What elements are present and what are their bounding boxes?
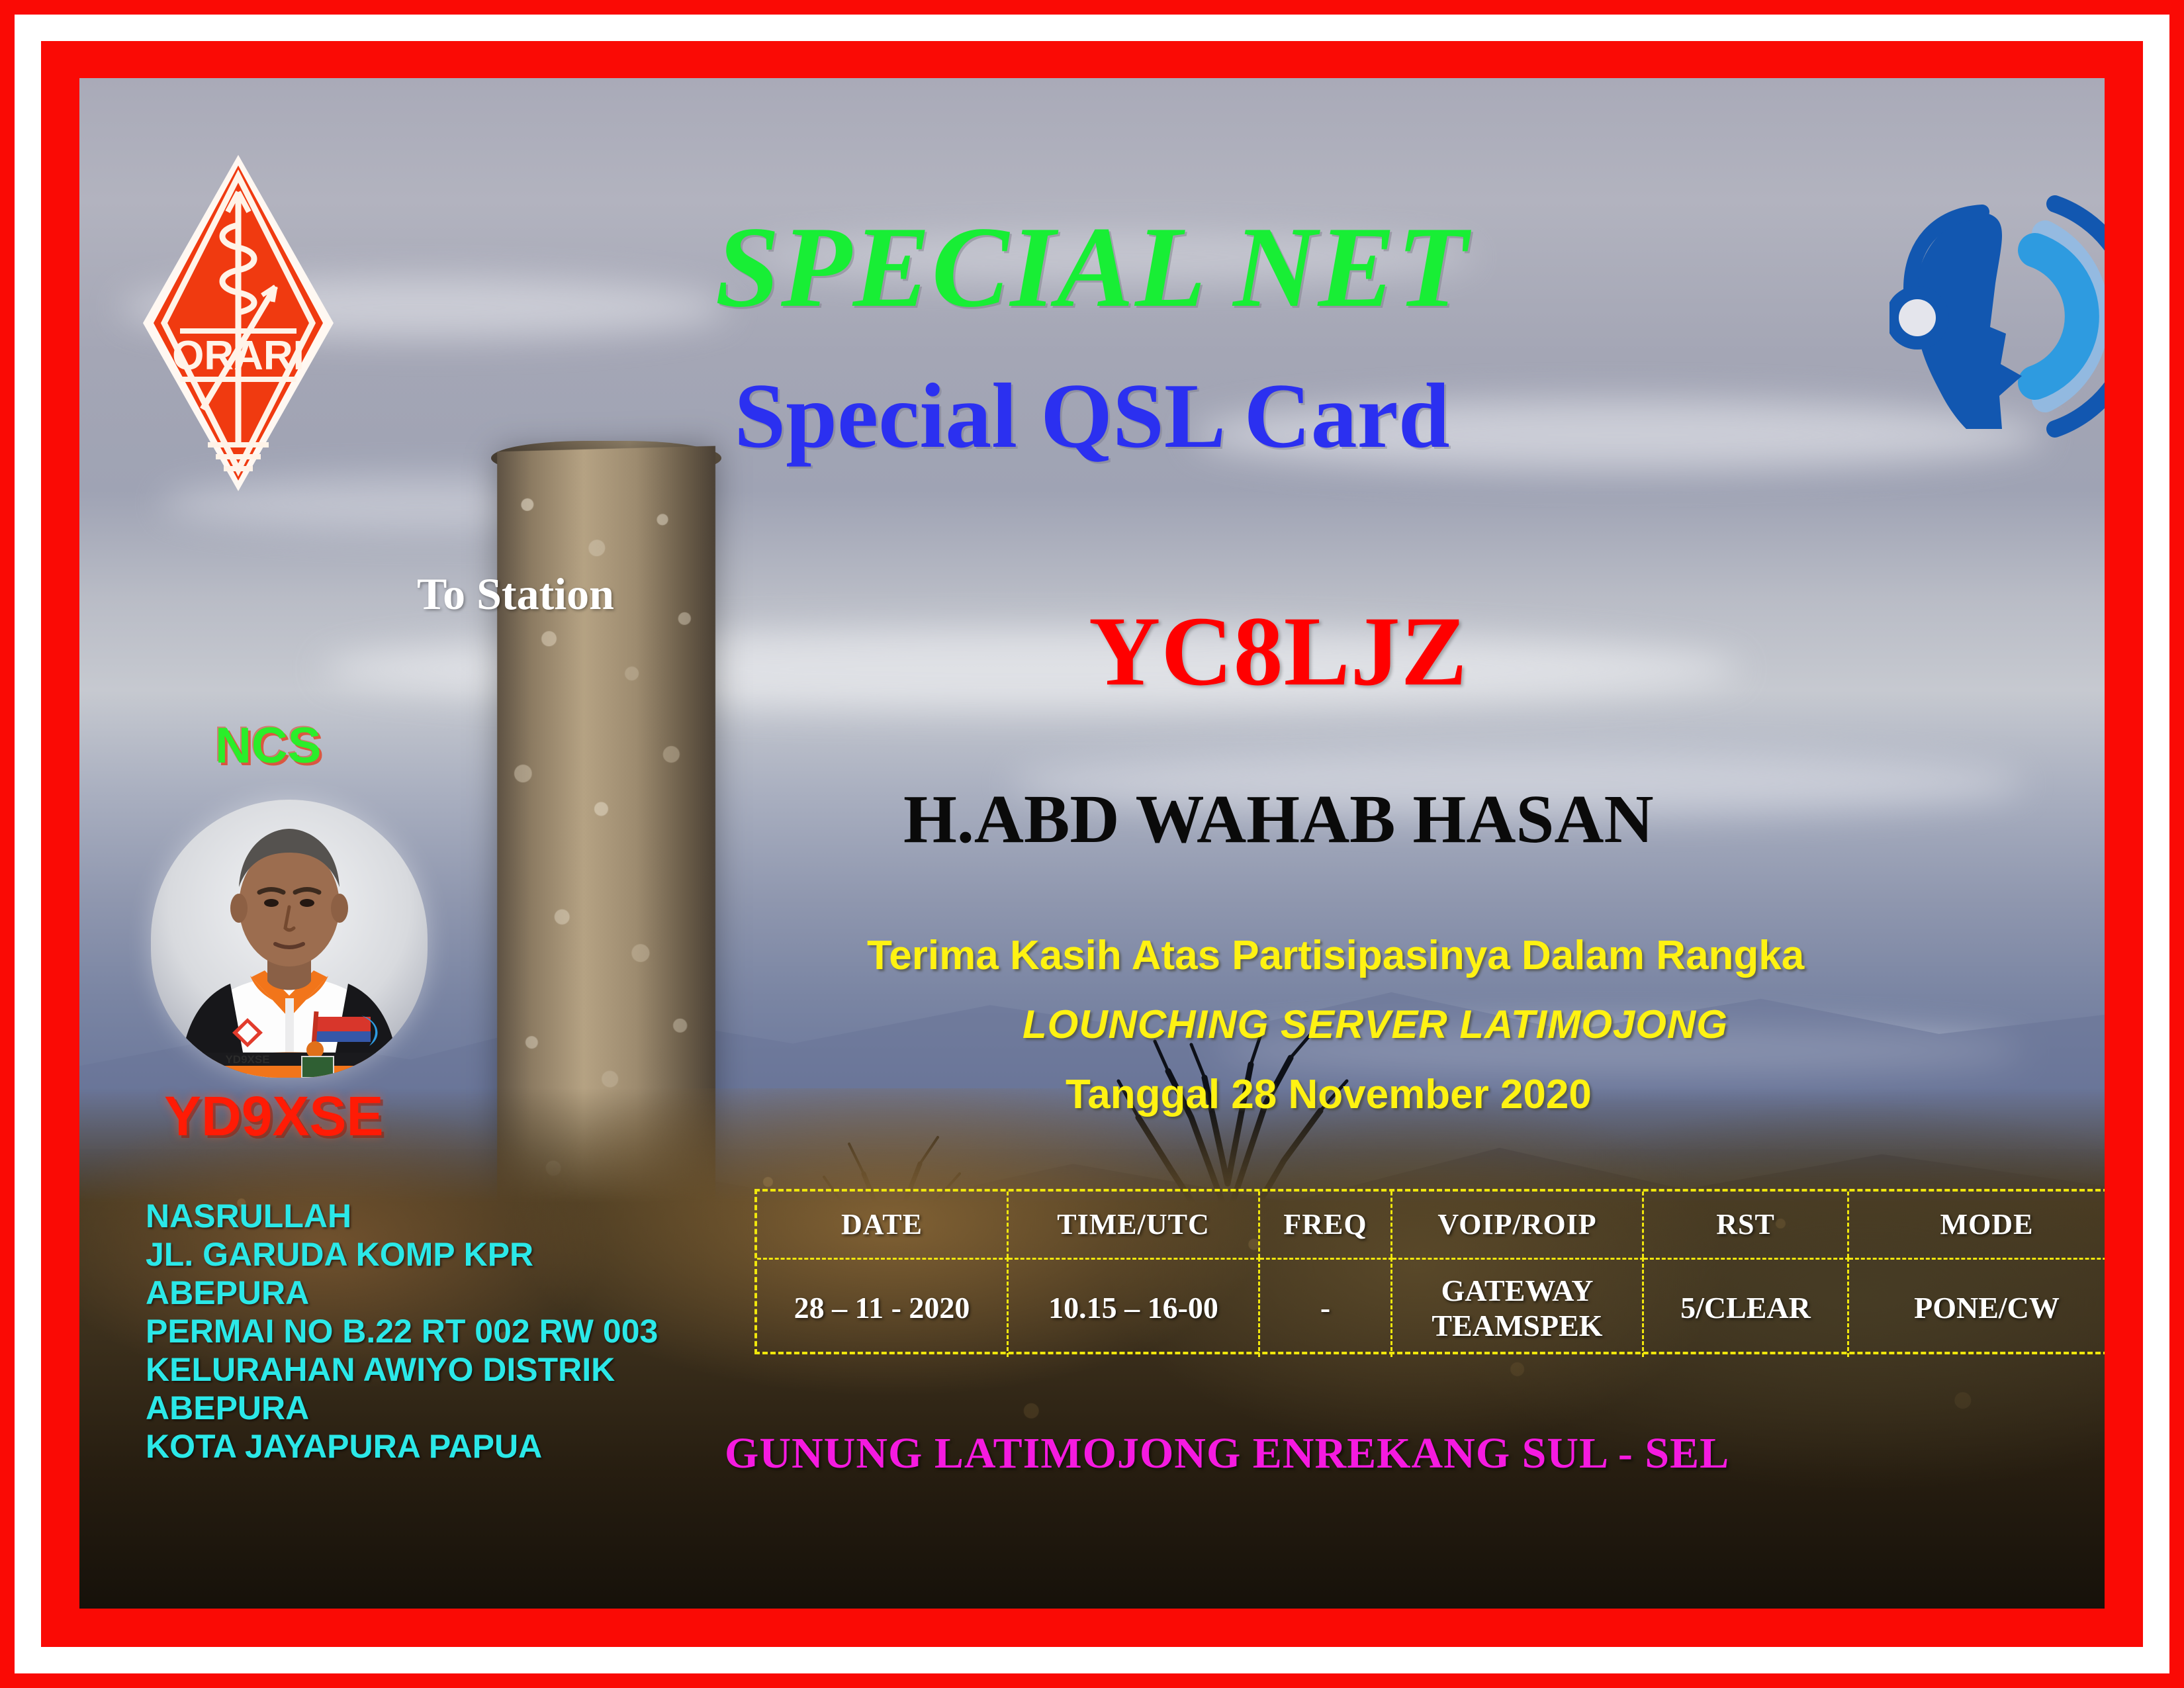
operator-portrait-photo: YD9XSE: [151, 800, 428, 1078]
card-inner-red-border: ORARI: [41, 41, 2143, 1647]
ncs-label: NCS: [215, 717, 321, 774]
card-photo-area: ORARI: [79, 78, 2105, 1609]
table-cell-date: 28 – 11 - 2020: [757, 1258, 1009, 1357]
operator-name: H.ABD WAHAB HASAN: [903, 780, 1654, 859]
address-line: JL. GARUDA KOMP KPR: [146, 1235, 658, 1274]
address-line: ABEPURA: [146, 1389, 658, 1427]
table-cell-rst: 5/CLEAR: [1644, 1258, 1849, 1357]
event-thanks-line: Terima Kasih Atas Partisipasinya Dalam R…: [867, 932, 1804, 979]
address-line: KOTA JAYAPURA PAPUA: [146, 1427, 658, 1466]
qsl-card: ORARI: [0, 0, 2184, 1688]
table-cell-voip-roip: GATEWAY TEAMSPEK: [1392, 1258, 1644, 1357]
address-line: KELURAHAN AWIYO DISTRIK: [146, 1350, 658, 1389]
table-cell-mode: PONE/CW: [1849, 1258, 2105, 1357]
svg-text:YD9XSE: YD9XSE: [225, 1053, 269, 1066]
ncs-callsign: YD9XSE: [164, 1084, 384, 1149]
qso-details-table: DATE TIME/UTC FREQ VOIP/ROIP RST MODE 28…: [754, 1189, 2105, 1354]
to-station-label: To Station: [417, 568, 614, 620]
table-cell-freq: -: [1260, 1258, 1392, 1357]
table-header-time: TIME/UTC: [1009, 1192, 1260, 1258]
event-date-line: Tanggal 28 November 2020: [1066, 1071, 1592, 1118]
mountain-location-caption: GUNUNG LATIMOJONG ENREKANG SUL - SEL: [725, 1429, 1729, 1479]
table-header-rst: RST: [1644, 1192, 1849, 1258]
table-header-voip-roip: VOIP/ROIP: [1392, 1192, 1644, 1258]
event-title-line: LOUNCHING SERVER LATIMOJONG: [1023, 1002, 1728, 1047]
address-line: PERMAI NO B.22 RT 002 RW 003: [146, 1312, 658, 1350]
address-line: ABEPURA: [146, 1274, 658, 1312]
table-header-freq: FREQ: [1260, 1192, 1392, 1258]
table-cell-time: 10.15 – 16-00: [1009, 1258, 1260, 1357]
station-callsign: YC8LJZ: [1089, 594, 1468, 708]
table-header-mode: MODE: [1849, 1192, 2105, 1258]
ncs-address-block: NASRULLAH JL. GARUDA KOMP KPR ABEPURA PE…: [146, 1197, 658, 1466]
page-title-special-net: SPECIAL NET: [79, 201, 2105, 334]
card-white-gap: ORARI: [15, 15, 2169, 1673]
address-line: NASRULLAH: [146, 1197, 658, 1235]
page-subtitle-qsl-card: Special QSL Card: [79, 363, 2105, 469]
table-header-date: DATE: [757, 1192, 1009, 1258]
